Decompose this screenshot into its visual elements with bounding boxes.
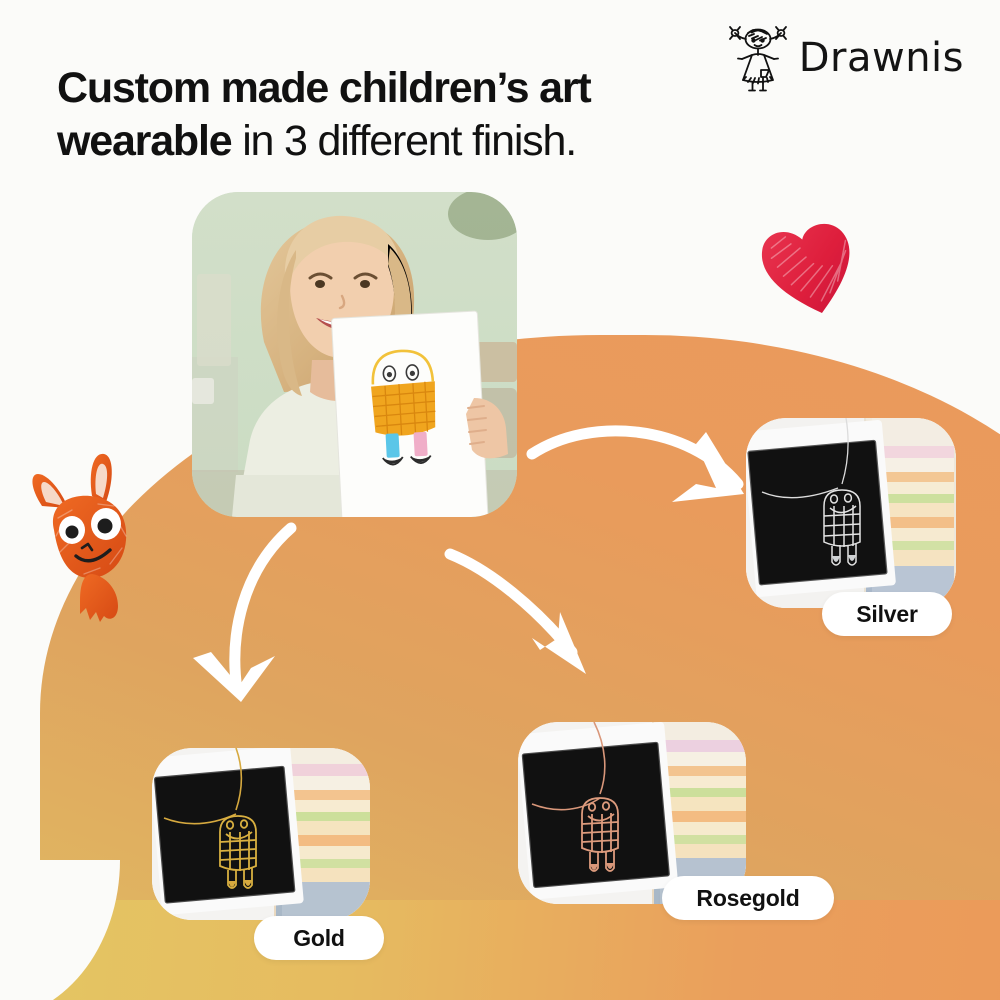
headline-line-1: Custom made children’s art [57,64,591,112]
product-label-gold-text: Gold [293,925,345,952]
curved-arrow-icon-rosegold [440,540,630,700]
poster-canvas: Custom made children’s art wearable in 3… [0,0,1000,1000]
product-label-rosegold[interactable]: Rosegold [662,876,834,920]
headline-line-2-bold: wearable [57,117,231,165]
product-label-gold[interactable]: Gold [254,916,384,960]
product-label-rosegold-text: Rosegold [696,885,799,912]
curved-arrow-icon-silver [520,398,790,548]
product-label-silver-text: Silver [856,601,917,628]
crayon-bunny-doodle [14,444,164,624]
page-title: Custom made children’s art wearable in 3… [57,62,591,169]
headline-line-2-regular: in 3 different finish. [231,117,576,165]
brand-logo[interactable]: Drawnis [727,22,964,94]
product-card-gold[interactable] [152,748,370,920]
product-label-silver[interactable]: Silver [822,592,952,636]
girl-doodle-icon [727,22,789,94]
crayon-heart-doodle [752,206,872,326]
brand-name: Drawnis [799,35,964,81]
curved-arrow-icon-gold [185,518,345,708]
hero-photo [192,192,517,517]
